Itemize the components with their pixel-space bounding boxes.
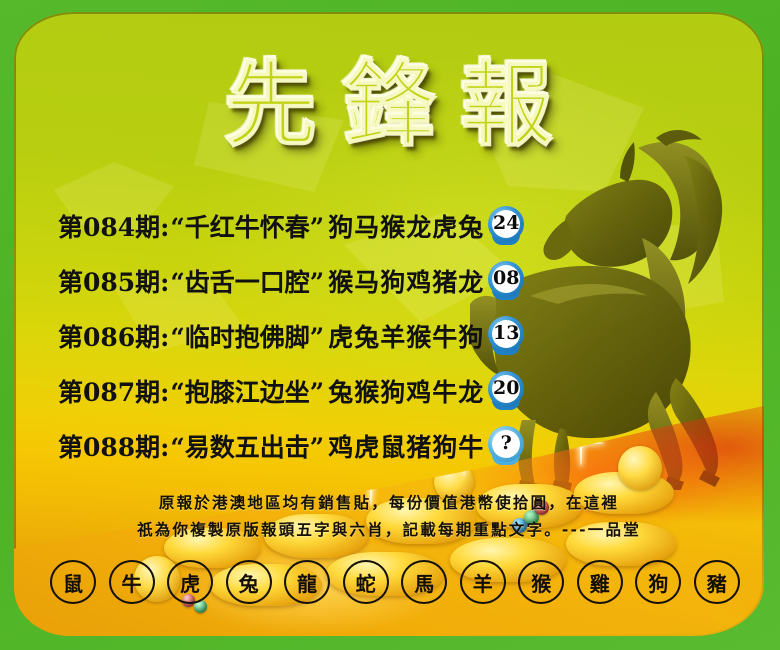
zodiac-label: 鼠 (63, 568, 83, 597)
phrase-text: “千红牛怀春” (170, 208, 324, 244)
zodiac-list: 鸡虎鼠猪狗牛 (328, 428, 484, 464)
forecast-row[interactable]: 第087期: “抱膝江边坐” 兔猴狗鸡牛龙 20 (58, 363, 578, 418)
forecast-row[interactable]: 第088期: “易数五出击” 鸡虎鼠猪狗牛 ? (58, 418, 578, 473)
zodiac-label: 蛇 (356, 568, 376, 597)
forecast-row[interactable]: 第084期: “千红牛怀春” 狗马猴龙虎兔 24 (58, 198, 578, 253)
zodiac-circle-horse[interactable]: 馬 (401, 560, 447, 604)
zodiac-label: 兔 (239, 568, 259, 597)
zodiac-circle-dog[interactable]: 狗 (635, 560, 681, 604)
zodiac-label: 馬 (414, 568, 434, 597)
result-number-badge[interactable]: 24 (486, 206, 526, 246)
zodiac-strip: 鼠 牛 虎 兔 龍 蛇 馬 羊 猴 雞 狗 豬 (50, 560, 740, 604)
zodiac-circle-rooster[interactable]: 雞 (577, 560, 623, 604)
zodiac-circle-rat[interactable]: 鼠 (50, 560, 96, 604)
notice-line-2: 祇為你複製原版報頭五字與六肖，記載每期重點文字。---一品堂 (14, 517, 764, 544)
zodiac-list: 兔猴狗鸡牛龙 (328, 373, 484, 409)
phrase-text: “临时抱佛脚” (170, 318, 324, 354)
forecast-row[interactable]: 第085期: “齿舌一口腔” 猴马狗鸡猪龙 08 (58, 253, 578, 308)
zodiac-label: 虎 (180, 568, 200, 597)
issue-label: 第087期: (58, 373, 169, 409)
issue-label: 第088期: (58, 428, 169, 464)
page-title: 先鋒報 (14, 60, 764, 152)
zodiac-list: 虎兔羊猴牛狗 (328, 318, 484, 354)
badge-number: 24 (492, 210, 520, 238)
badge-number: 20 (492, 375, 520, 403)
issue-label: 第085期: (58, 263, 169, 299)
zodiac-label: 猴 (531, 568, 551, 597)
result-number-badge[interactable]: ? (486, 426, 526, 466)
zodiac-circle-ox[interactable]: 牛 (109, 560, 155, 604)
zodiac-circle-monkey[interactable]: 猴 (518, 560, 564, 604)
zodiac-circle-rabbit[interactable]: 兔 (226, 560, 272, 604)
zodiac-circle-pig[interactable]: 豬 (694, 560, 740, 604)
forecast-list: 第084期: “千红牛怀春” 狗马猴龙虎兔 24 第085期: “齿舌一口腔” … (58, 198, 578, 473)
zodiac-list: 狗马猴龙虎兔 (328, 208, 484, 244)
zodiac-circle-goat[interactable]: 羊 (460, 560, 506, 604)
phrase-text: “齿舌一口腔” (170, 263, 324, 299)
badge-number: ? (492, 430, 520, 458)
zodiac-label: 豬 (707, 568, 727, 597)
notice-line-1: 原報於港澳地區均有銷售貼，每份價值港幣使拾圓，在這裡 (14, 490, 764, 517)
zodiac-label: 雞 (590, 568, 610, 597)
zodiac-list: 猴马狗鸡猪龙 (328, 263, 484, 299)
result-number-badge[interactable]: 20 (486, 371, 526, 411)
zodiac-circle-dragon[interactable]: 龍 (284, 560, 330, 604)
phrase-text: “抱膝江边坐” (170, 373, 324, 409)
issue-label: 第086期: (58, 318, 169, 354)
issue-label: 第084期: (58, 208, 169, 244)
zodiac-label: 牛 (122, 568, 142, 597)
badge-number: 08 (492, 265, 520, 293)
result-number-badge[interactable]: 13 (486, 316, 526, 356)
zodiac-label: 羊 (473, 568, 493, 597)
zodiac-circle-snake[interactable]: 蛇 (343, 560, 389, 604)
zodiac-label: 龍 (297, 568, 317, 597)
zodiac-circle-tiger[interactable]: 虎 (167, 560, 213, 604)
badge-number: 13 (492, 320, 520, 348)
forecast-row[interactable]: 第086期: “临时抱佛脚” 虎兔羊猴牛狗 13 (58, 308, 578, 363)
phrase-text: “易数五出击” (170, 428, 324, 464)
poster-card: 先鋒報 第084期: “千红牛怀春” 狗马猴龙虎兔 24 第085期: “齿舌一… (14, 12, 764, 636)
footer-notice: 原報於港澳地區均有銷售貼，每份價值港幣使拾圓，在這裡 祇為你複製原版報頭五字與六… (14, 490, 764, 544)
zodiac-label: 狗 (648, 568, 668, 597)
poster-root: 先鋒報 第084期: “千红牛怀春” 狗马猴龙虎兔 24 第085期: “齿舌一… (0, 0, 780, 650)
result-number-badge[interactable]: 08 (486, 261, 526, 301)
